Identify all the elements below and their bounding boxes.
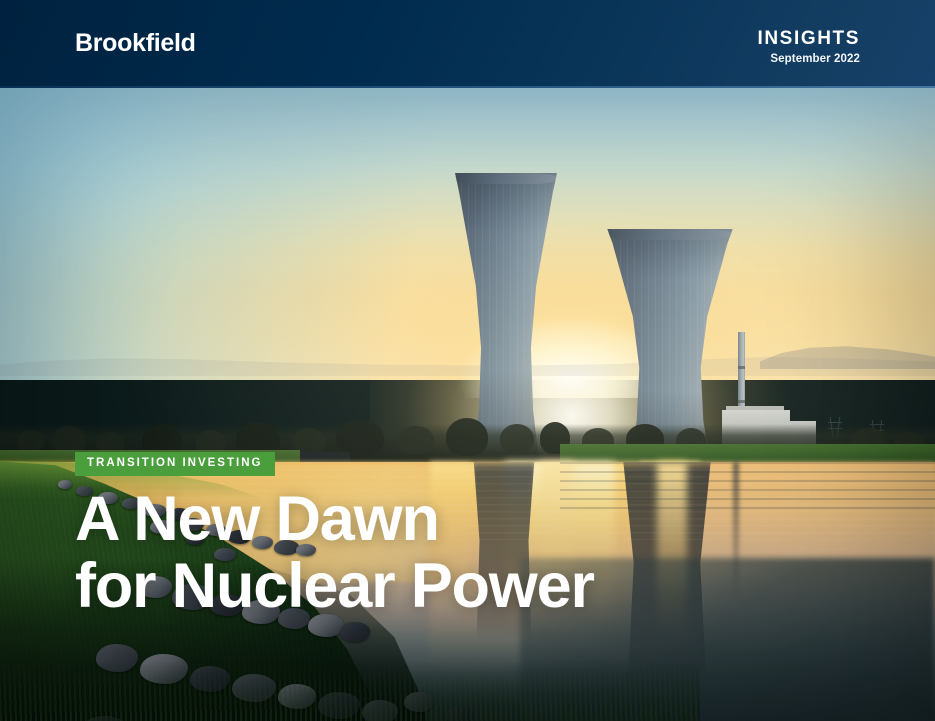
page-title: A New Dawn for Nuclear Power: [75, 486, 594, 620]
cover-page: Brookfield INSIGHTS September 2022: [0, 0, 935, 721]
headline-line-1: A New Dawn: [75, 484, 439, 554]
insights-label: INSIGHTS: [757, 29, 860, 49]
insights-masthead: INSIGHTS September 2022: [757, 29, 860, 66]
cover-text-overlay: TRANSITION INVESTING A New Dawn for Nucl…: [0, 0, 935, 721]
publication-date: September 2022: [757, 53, 860, 66]
page-header: Brookfield INSIGHTS September 2022: [0, 0, 935, 88]
category-badge[interactable]: TRANSITION INVESTING: [75, 452, 275, 476]
headline-line-2: for Nuclear Power: [75, 553, 594, 620]
brookfield-logo[interactable]: Brookfield: [75, 31, 196, 56]
